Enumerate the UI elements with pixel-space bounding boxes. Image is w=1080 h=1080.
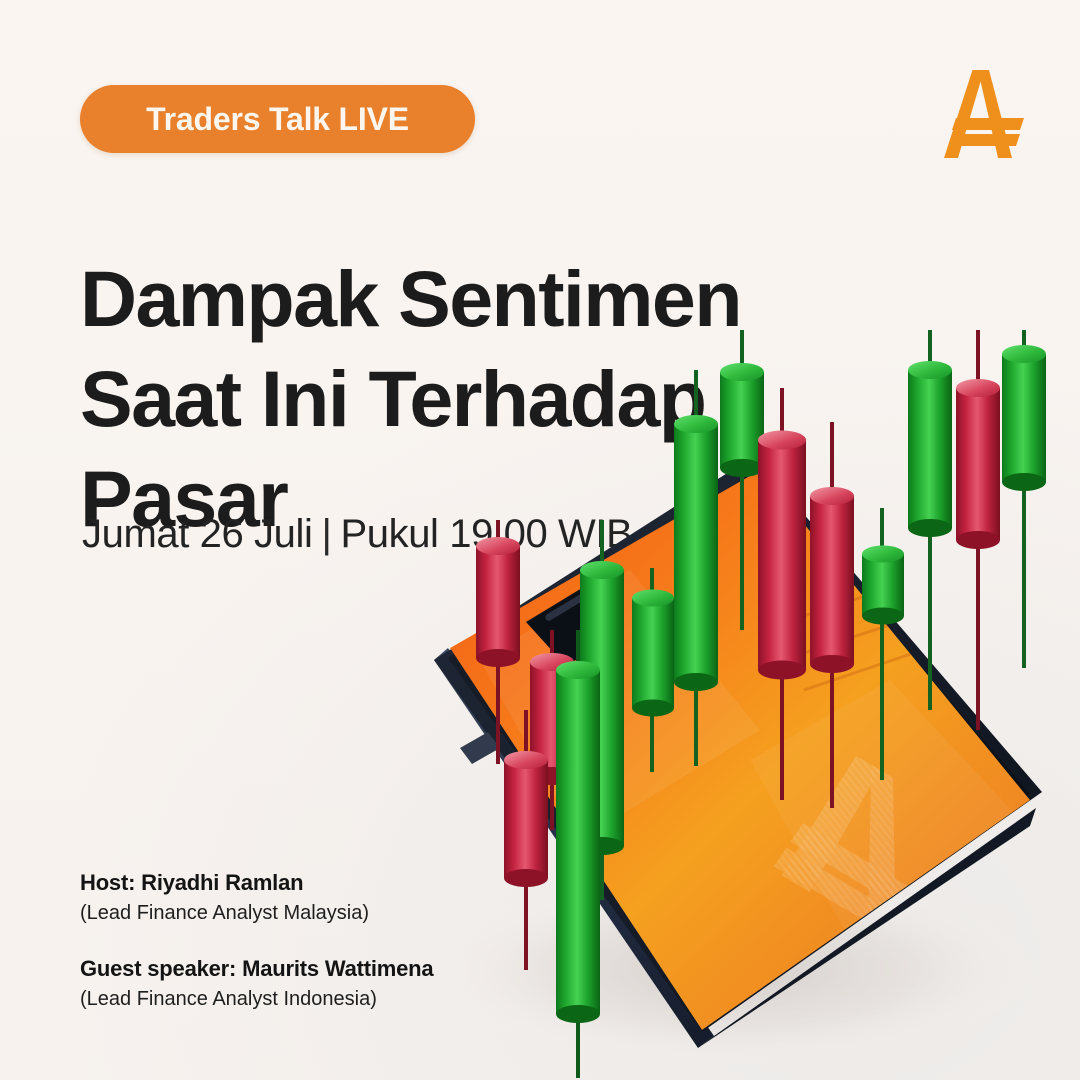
speaker-credits: Host: Riyadhi Ramlan (Lead Finance Analy… [80, 868, 600, 1014]
host-role: (Lead Finance Analyst Malaysia) [80, 898, 600, 928]
host-name: Host: Riyadhi Ramlan [80, 868, 600, 898]
headline-line-2: Saat Ini Terhadap [80, 349, 840, 449]
credit-guest: Guest speaker: Maurits Wattimena (Lead F… [80, 954, 600, 1014]
poster-canvas: Traders Talk LIVE Dampak Sentimen Saat I… [0, 0, 1080, 1080]
a-monogram-logo [928, 62, 1032, 166]
event-schedule: Jumat 26 Juli|Pukul 19.00 WIB [82, 512, 632, 557]
guest-role: (Lead Finance Analyst Indonesia) [80, 984, 600, 1014]
badge-label: Traders Talk LIVE [146, 101, 409, 138]
traders-talk-live-badge: Traders Talk LIVE [80, 85, 475, 153]
schedule-separator: | [321, 512, 331, 557]
guest-name: Guest speaker: Maurits Wattimena [80, 954, 600, 984]
event-time: Pukul 19.00 WIB [340, 512, 632, 556]
credit-host: Host: Riyadhi Ramlan (Lead Finance Analy… [80, 868, 600, 928]
event-date: Jumat 26 Juli [82, 512, 312, 556]
headline-line-1: Dampak Sentimen [80, 249, 840, 349]
page-title: Dampak Sentimen Saat Ini Terhadap Pasar [80, 249, 840, 549]
